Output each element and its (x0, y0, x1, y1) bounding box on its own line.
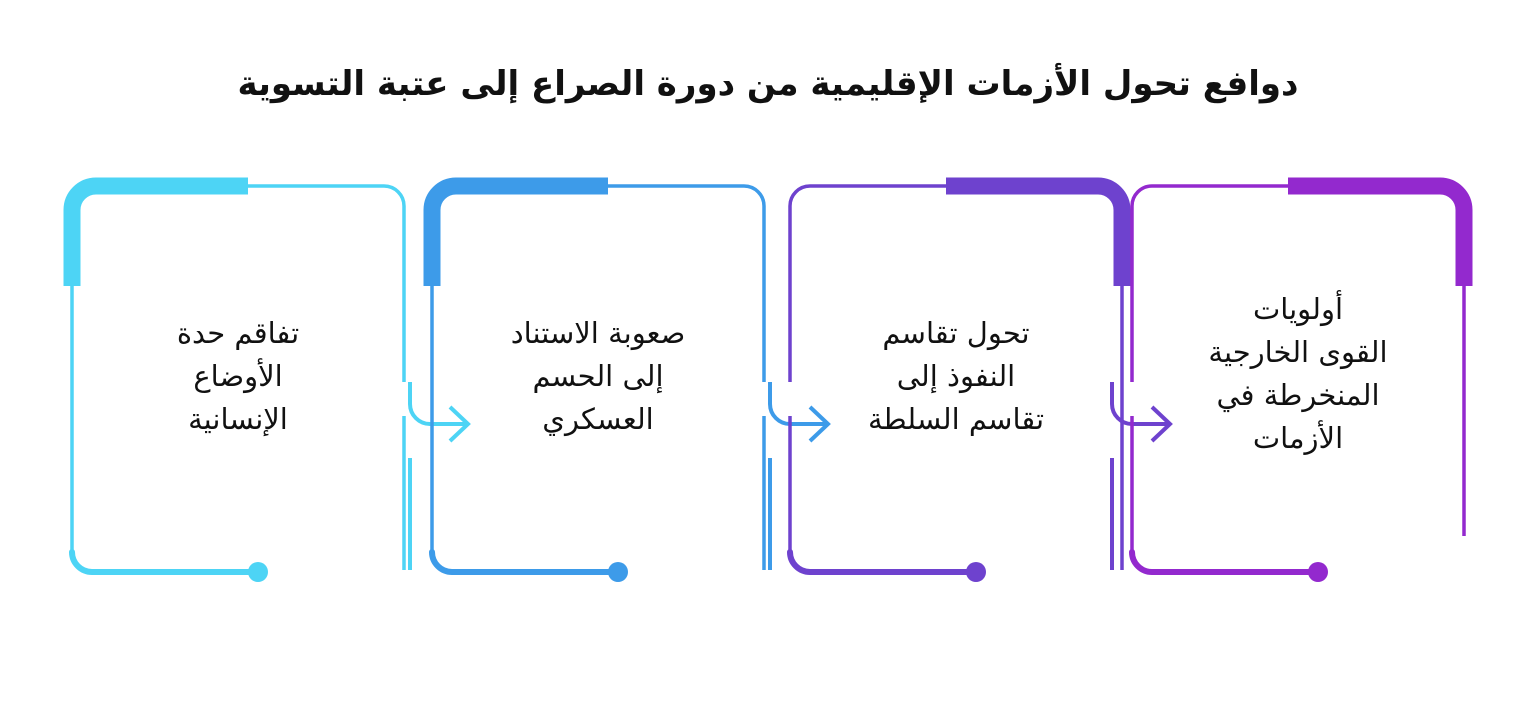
process-step-4[interactable]: أولوياتالقوى الخارجيةالمنخرطة فيالأزمات (1122, 176, 1474, 580)
process-flow-diagram: تفاقم حدةالأوضاعالإنسانية صعوبة الاستناد… (0, 0, 1536, 712)
infographic-root: دوافع تحول الأزمات الإقليمية من دورة الص… (0, 0, 1536, 712)
process-step-4-end-dot (1308, 562, 1328, 582)
process-step-1-end-dot (248, 562, 268, 582)
process-step-2[interactable]: صعوبة الاستنادإلى الحسمالعسكري (422, 176, 774, 580)
process-step-2-end-dot (608, 562, 628, 582)
process-step-4-label: أولوياتالقوى الخارجيةالمنخرطة فيالأزمات (1122, 288, 1474, 460)
process-step-2-label: صعوبة الاستنادإلى الحسمالعسكري (422, 312, 774, 441)
process-step-1[interactable]: تفاقم حدةالأوضاعالإنسانية (62, 176, 414, 580)
process-step-3-label: تحول تقاسمالنفوذ إلىتقاسم السلطة (780, 312, 1132, 441)
process-step-1-label: تفاقم حدةالأوضاعالإنسانية (62, 312, 414, 441)
process-step-3-end-dot (966, 562, 986, 582)
process-step-3[interactable]: تحول تقاسمالنفوذ إلىتقاسم السلطة (780, 176, 1132, 580)
